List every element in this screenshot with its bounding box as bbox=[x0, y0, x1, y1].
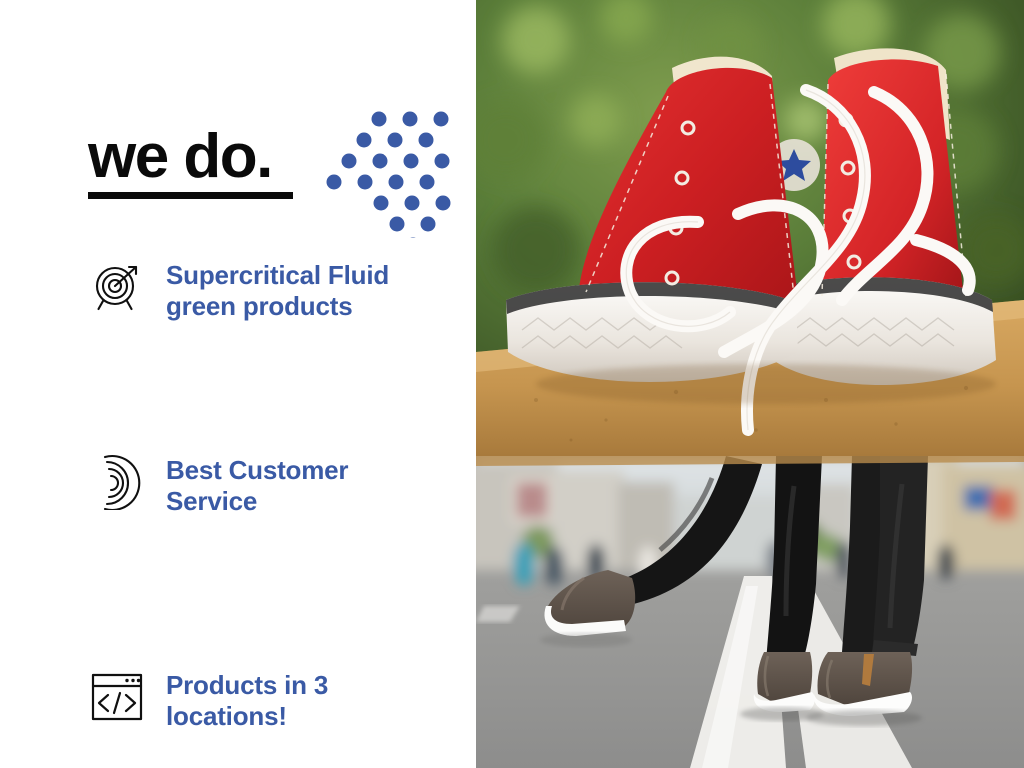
feature-item-best-customer-service: Best Customer Service bbox=[88, 453, 460, 517]
feature-label: Supercritical Fluid green products bbox=[166, 258, 389, 322]
code-window-icon bbox=[88, 668, 146, 726]
target-bullseye-icon bbox=[88, 258, 146, 316]
feature-label: Products in 3 locations! bbox=[166, 668, 328, 732]
street-sneakers-legs-photo bbox=[476, 456, 1024, 768]
red-high-top-sneakers-photo bbox=[476, 0, 1024, 456]
wordmark-underline bbox=[88, 192, 293, 199]
photo-column bbox=[476, 0, 1024, 768]
slide-root: we do. bbox=[0, 0, 1024, 768]
feature-label: Best Customer Service bbox=[166, 453, 348, 517]
feature-item-products-locations: Products in 3 locations! bbox=[88, 668, 460, 732]
brand-block: we do. bbox=[88, 108, 453, 238]
wordmark-text: we do. bbox=[88, 126, 300, 188]
dot-arrow-logo-icon bbox=[323, 108, 453, 238]
feature-item-supercritical-fluid: Supercritical Fluid green products bbox=[88, 258, 460, 322]
left-content-panel: we do. bbox=[0, 0, 476, 768]
wordmark-block: we do. bbox=[88, 126, 300, 199]
signal-waves-icon bbox=[88, 453, 146, 511]
